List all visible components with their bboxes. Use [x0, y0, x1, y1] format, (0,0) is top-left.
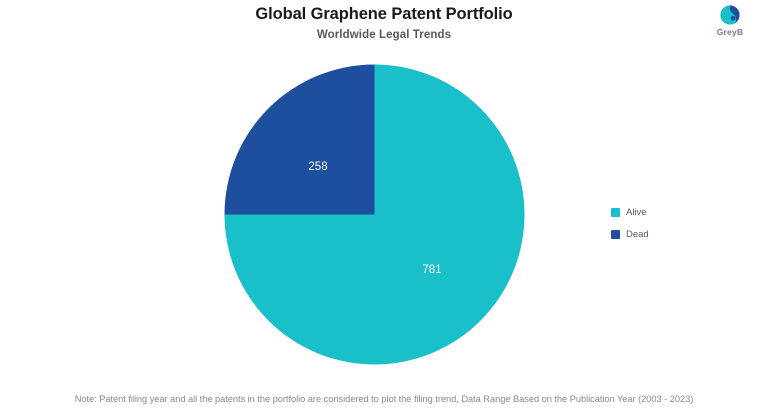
footer-note: Note: Patent filing year and all the pat…	[0, 394, 768, 404]
brand-logo: GreyB	[708, 4, 752, 44]
pie-chart: 781 258	[224, 64, 525, 365]
chart-legend: Alive Dead	[611, 201, 721, 245]
legend-swatch-alive	[611, 208, 620, 217]
pie-slice-dead[interactable]	[225, 65, 375, 215]
pie-label-alive: 781	[422, 264, 441, 276]
legend-label-alive: Alive	[626, 207, 647, 218]
brand-name: GreyB	[708, 27, 752, 37]
chart-canvas: Global Graphene Patent Portfolio Worldwi…	[0, 0, 768, 410]
greyb-logo-icon	[719, 4, 741, 26]
legend-label-dead: Dead	[626, 229, 649, 240]
legend-swatch-dead	[611, 230, 620, 239]
page-title: Global Graphene Patent Portfolio	[0, 5, 768, 24]
legend-item-dead[interactable]: Dead	[611, 223, 721, 245]
legend-item-alive[interactable]: Alive	[611, 201, 721, 223]
chart-subtitle: Worldwide Legal Trends	[0, 29, 768, 41]
pie-label-dead: 258	[308, 161, 327, 173]
